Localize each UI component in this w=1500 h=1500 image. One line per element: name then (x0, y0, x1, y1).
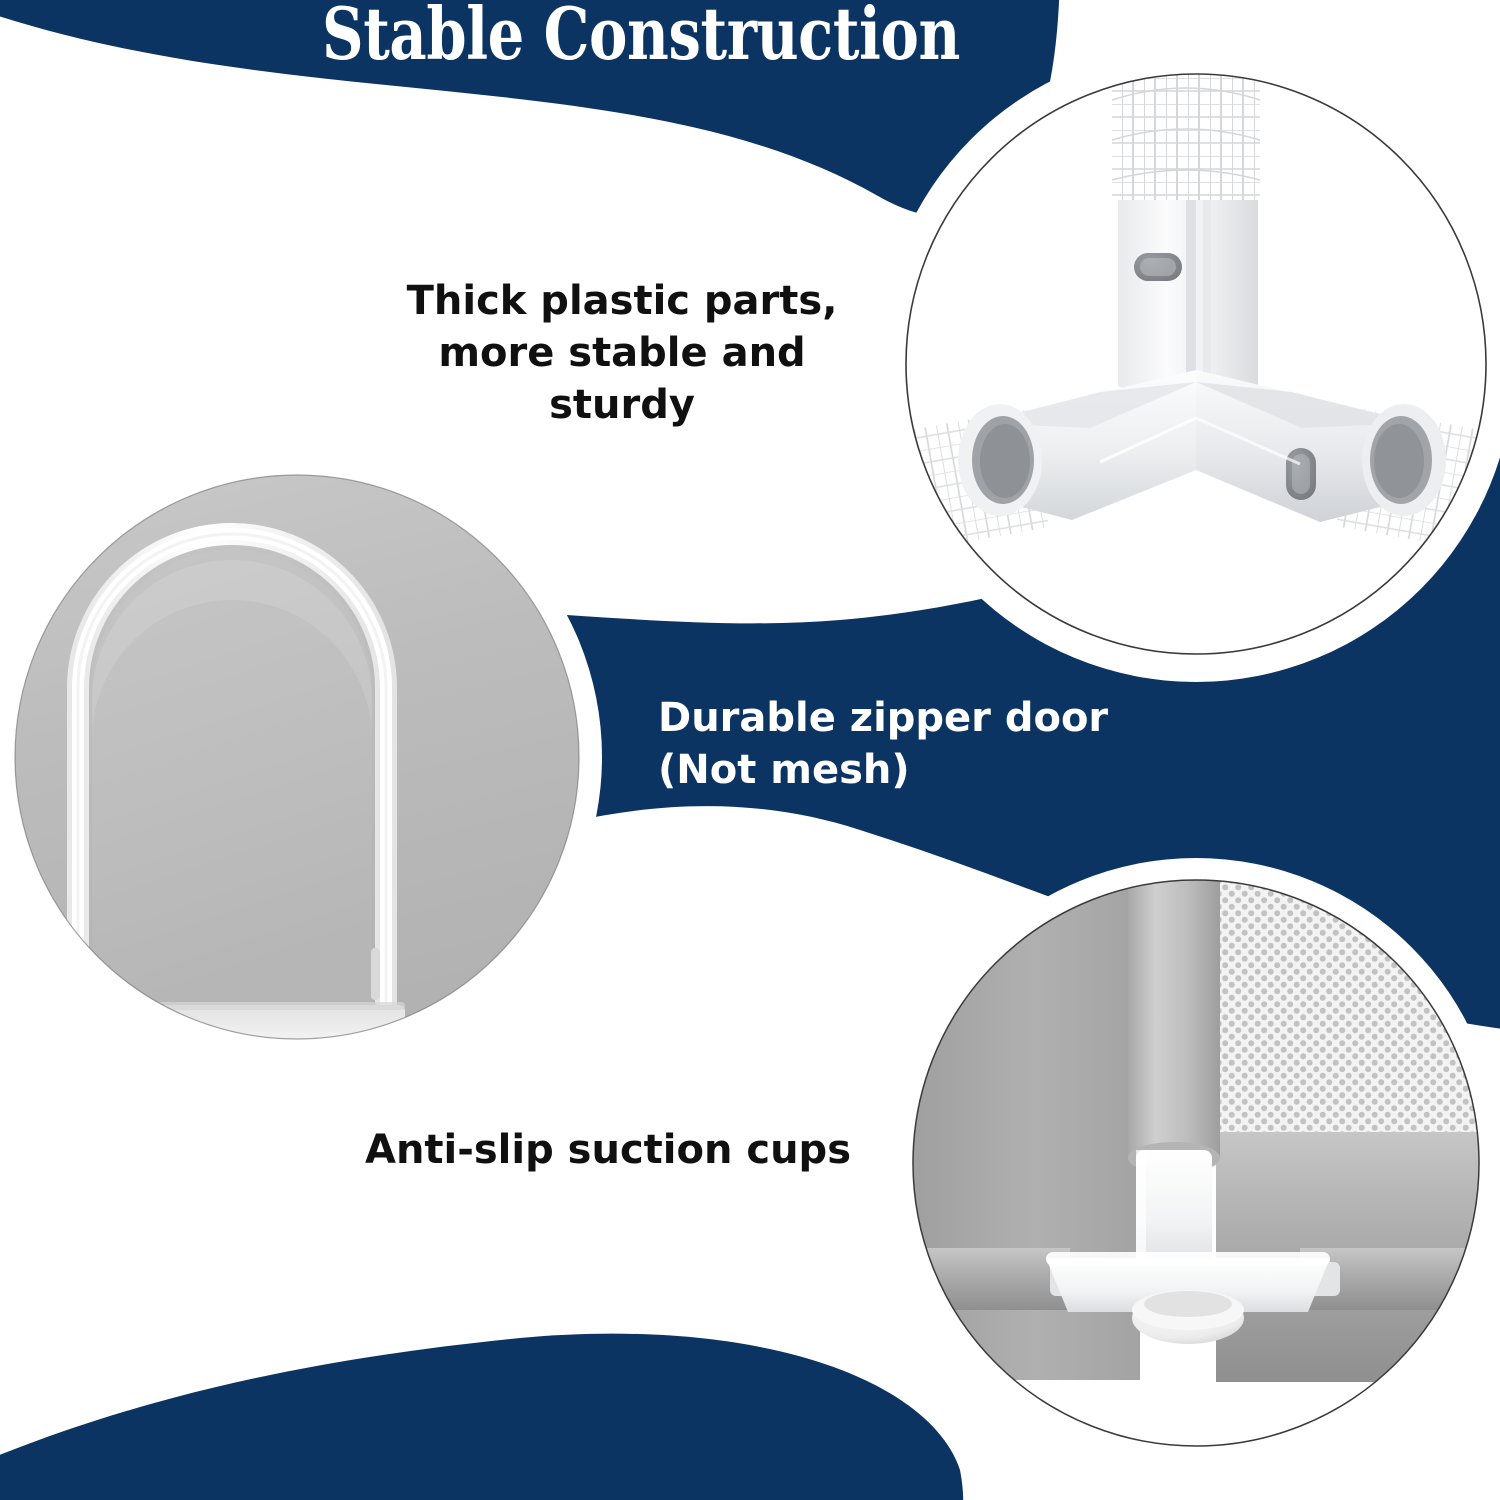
callout-durable-zipper-door: Durable zipper door (Not mesh) (658, 692, 1118, 796)
callout-anti-slip-suction-cups: Anti-slip suction cups (365, 1124, 885, 1176)
infographic-canvas: Stable Construction Thick plastic parts,… (0, 0, 1500, 1500)
navy-footer-shape (0, 1334, 963, 1500)
page-title: Stable Construction (322, 0, 898, 72)
callout-thick-plastic-parts: Thick plastic parts, more stable and stu… (362, 275, 882, 431)
